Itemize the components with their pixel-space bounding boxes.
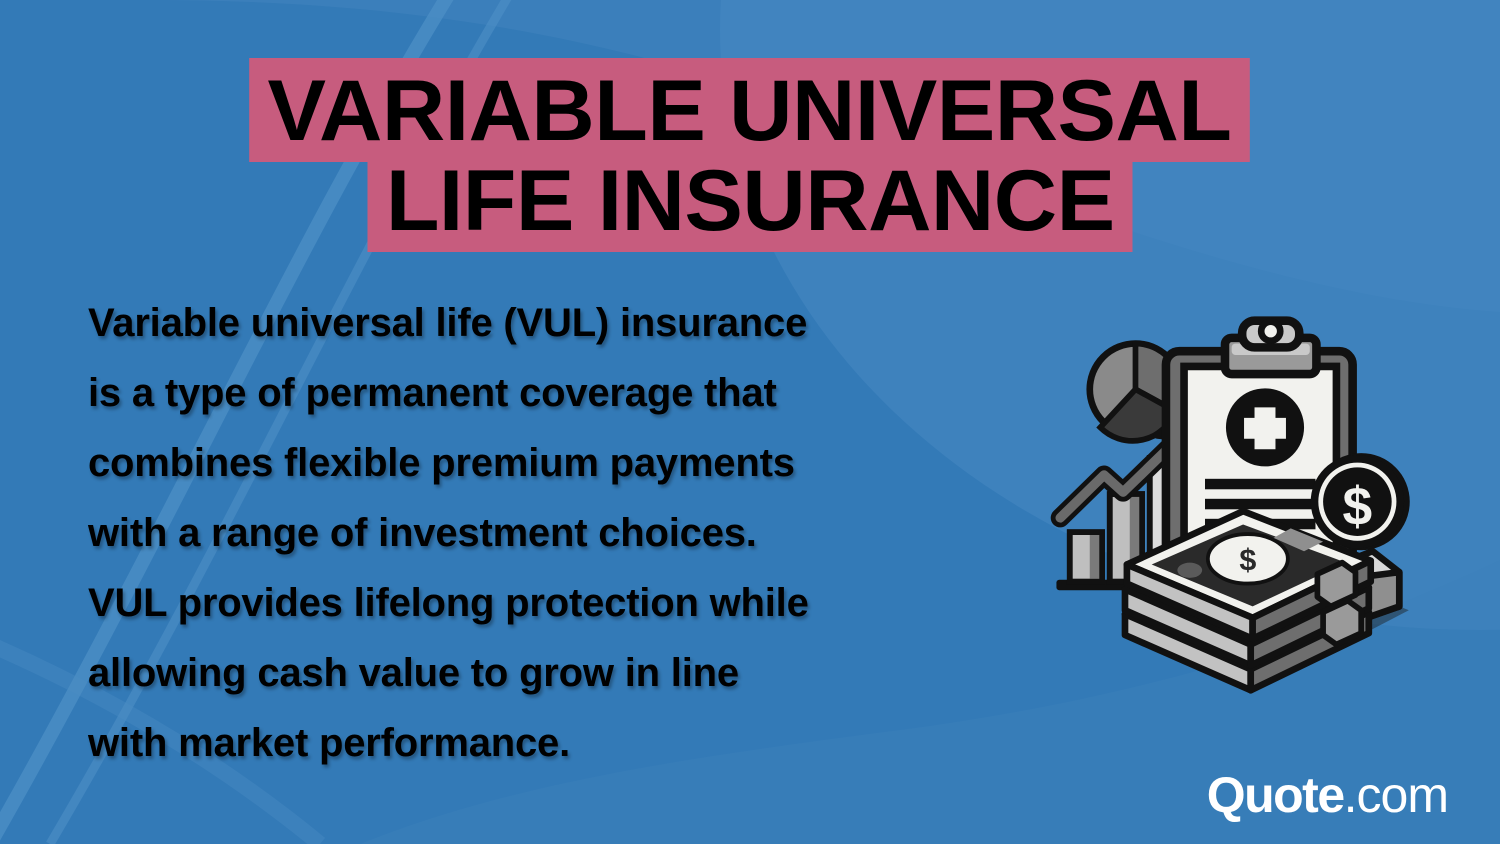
title-line-1-text: VARIABLE UNIVERSAL xyxy=(250,58,1251,162)
quote-com-logo[interactable]: Quote .com xyxy=(1207,770,1448,820)
body-copy: Variable universal life (VUL) insurance … xyxy=(88,288,1048,778)
title-line-1: VARIABLE UNIVERSAL xyxy=(0,58,1500,162)
body-line-1: Variable universal life (VUL) insurance xyxy=(88,288,1048,358)
svg-text:$: $ xyxy=(1239,543,1256,577)
svg-text:$: $ xyxy=(1343,478,1373,537)
insurance-finance-illustration: $ $ xyxy=(1045,315,1445,715)
body-line-4: with a range of investment choices. xyxy=(88,498,1048,568)
body-line-7: with market performance. xyxy=(88,708,1048,778)
title-line-2: LIFE INSURANCE xyxy=(0,148,1500,252)
dollar-coin-icon: $ xyxy=(1313,453,1410,550)
logo-brand-text: Quote xyxy=(1207,770,1344,820)
body-line-6: allowing cash value to grow in line xyxy=(88,638,1048,708)
medical-cross-icon xyxy=(1226,388,1304,466)
title-line-2-text: LIFE INSURANCE xyxy=(367,148,1132,252)
body-line-5: VUL provides lifelong protection while xyxy=(88,568,1048,638)
body-line-3: combines flexible premium payments xyxy=(88,428,1048,498)
logo-tld-text: .com xyxy=(1344,770,1448,820)
page-title: VARIABLE UNIVERSAL LIFE INSURANCE xyxy=(0,58,1500,252)
body-line-2: is a type of permanent coverage that xyxy=(88,358,1048,428)
infographic-canvas: VARIABLE UNIVERSAL LIFE INSURANCE Variab… xyxy=(0,0,1500,844)
